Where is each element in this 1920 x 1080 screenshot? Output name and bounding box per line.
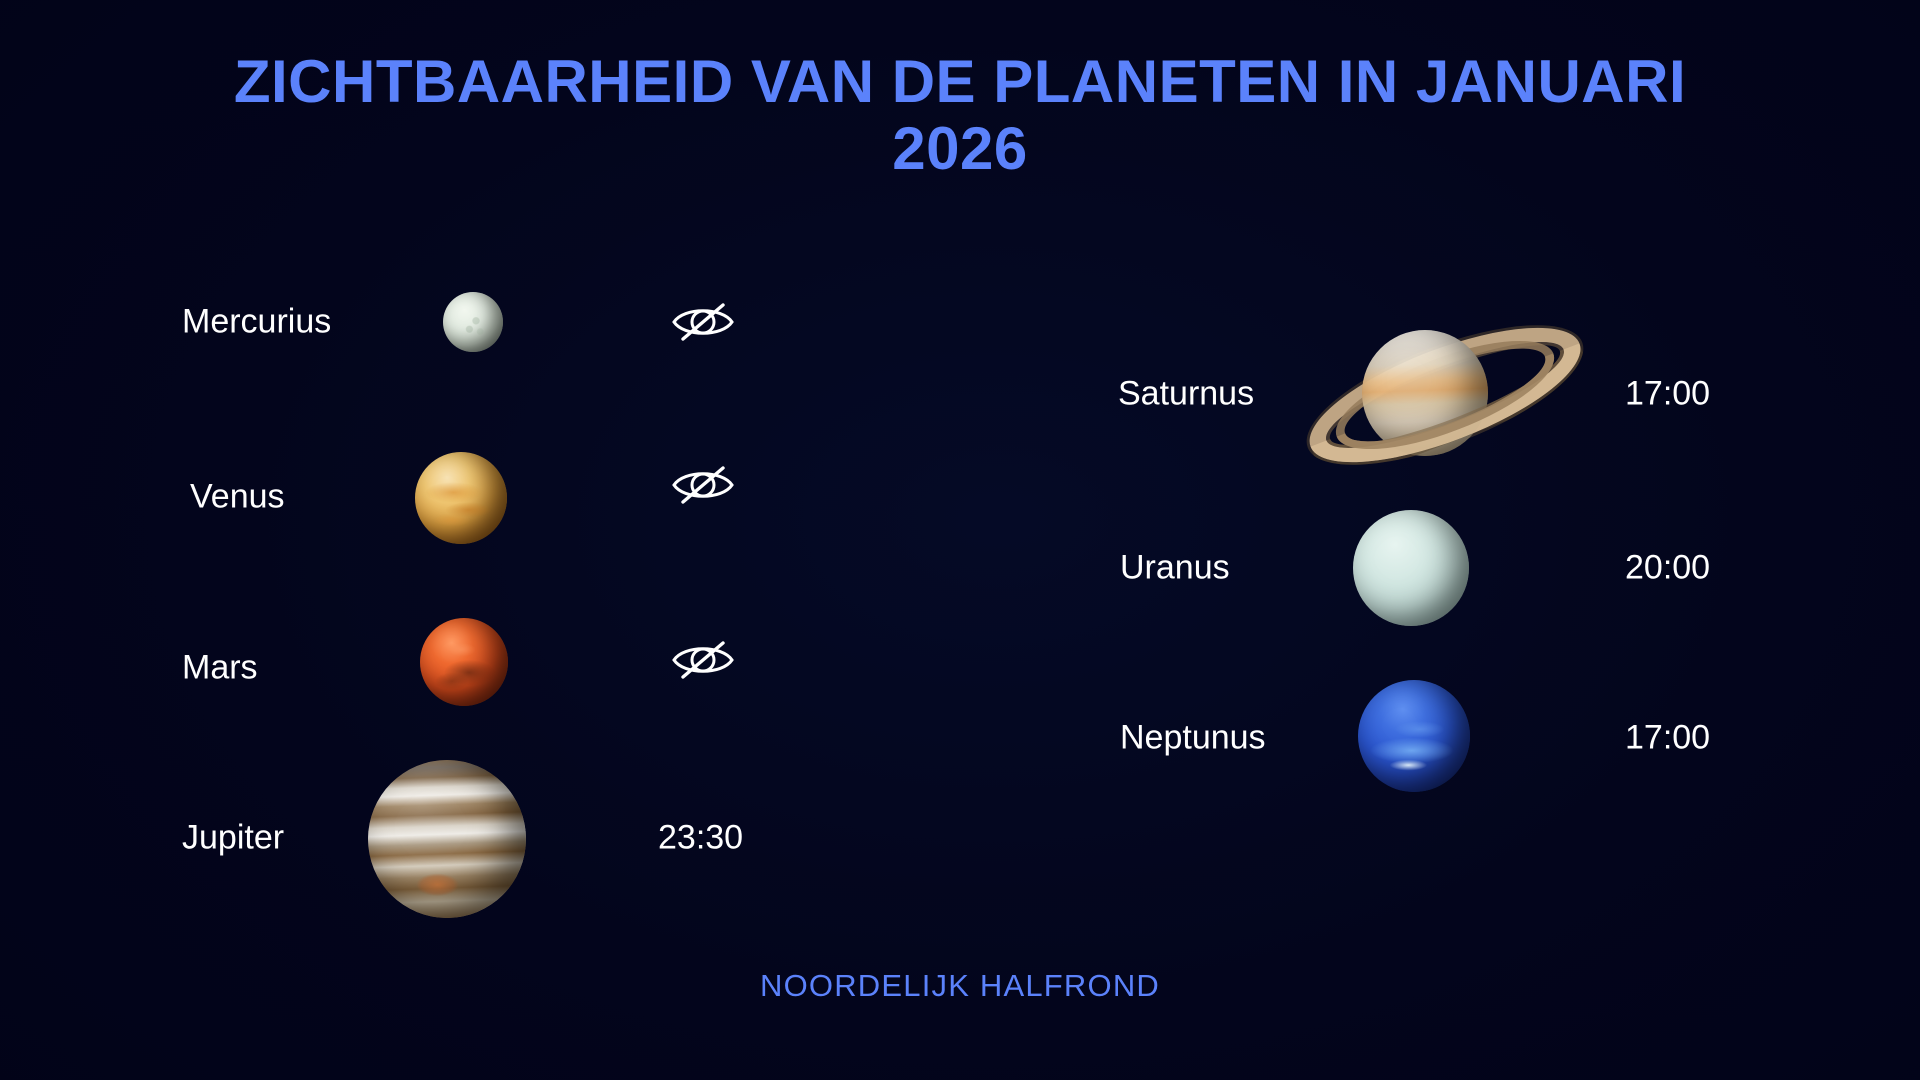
planet-body-mars bbox=[420, 618, 508, 706]
planet-body-jupiter bbox=[368, 760, 526, 918]
poster-canvas: ZICHTBAARHEID VAN DE PLANETEN IN JANUARI… bbox=[0, 0, 1920, 1080]
planet-time-saturnus: 17:00 bbox=[1625, 375, 1710, 414]
planet-time-neptunus: 17:00 bbox=[1625, 719, 1710, 758]
page-title-line1: ZICHTBAARHEID VAN DE PLANETEN IN JANUARI bbox=[234, 48, 1686, 115]
planet-body-neptunus bbox=[1358, 680, 1470, 792]
planet-label-venus: Venus bbox=[190, 478, 285, 517]
planet-label-mars: Mars bbox=[182, 649, 258, 688]
planet-label-jupiter: Jupiter bbox=[182, 819, 284, 858]
planet-label-neptunus: Neptunus bbox=[1120, 719, 1266, 758]
eye-off-icon-mercurius bbox=[670, 300, 736, 344]
planet-body-uranus bbox=[1353, 510, 1469, 626]
planet-label-saturnus: Saturnus bbox=[1118, 375, 1254, 414]
planet-time-uranus: 20:00 bbox=[1625, 549, 1710, 588]
planet-label-uranus: Uranus bbox=[1120, 549, 1230, 588]
eye-off-icon-venus bbox=[670, 463, 736, 507]
page-title: ZICHTBAARHEID VAN DE PLANETEN IN JANUARI… bbox=[0, 48, 1920, 182]
planet-body-venus bbox=[415, 452, 507, 544]
planet-body-saturnus bbox=[1300, 320, 1590, 470]
planet-label-mercurius: Mercurius bbox=[182, 303, 331, 342]
eye-off-icon-mars bbox=[670, 638, 736, 682]
planet-body-mercurius bbox=[443, 292, 503, 352]
footer-hemisphere-label: NOORDELIJK HALFROND bbox=[0, 968, 1920, 1004]
planet-time-jupiter: 23:30 bbox=[658, 819, 743, 858]
page-title-line2: 2026 bbox=[0, 115, 1920, 182]
